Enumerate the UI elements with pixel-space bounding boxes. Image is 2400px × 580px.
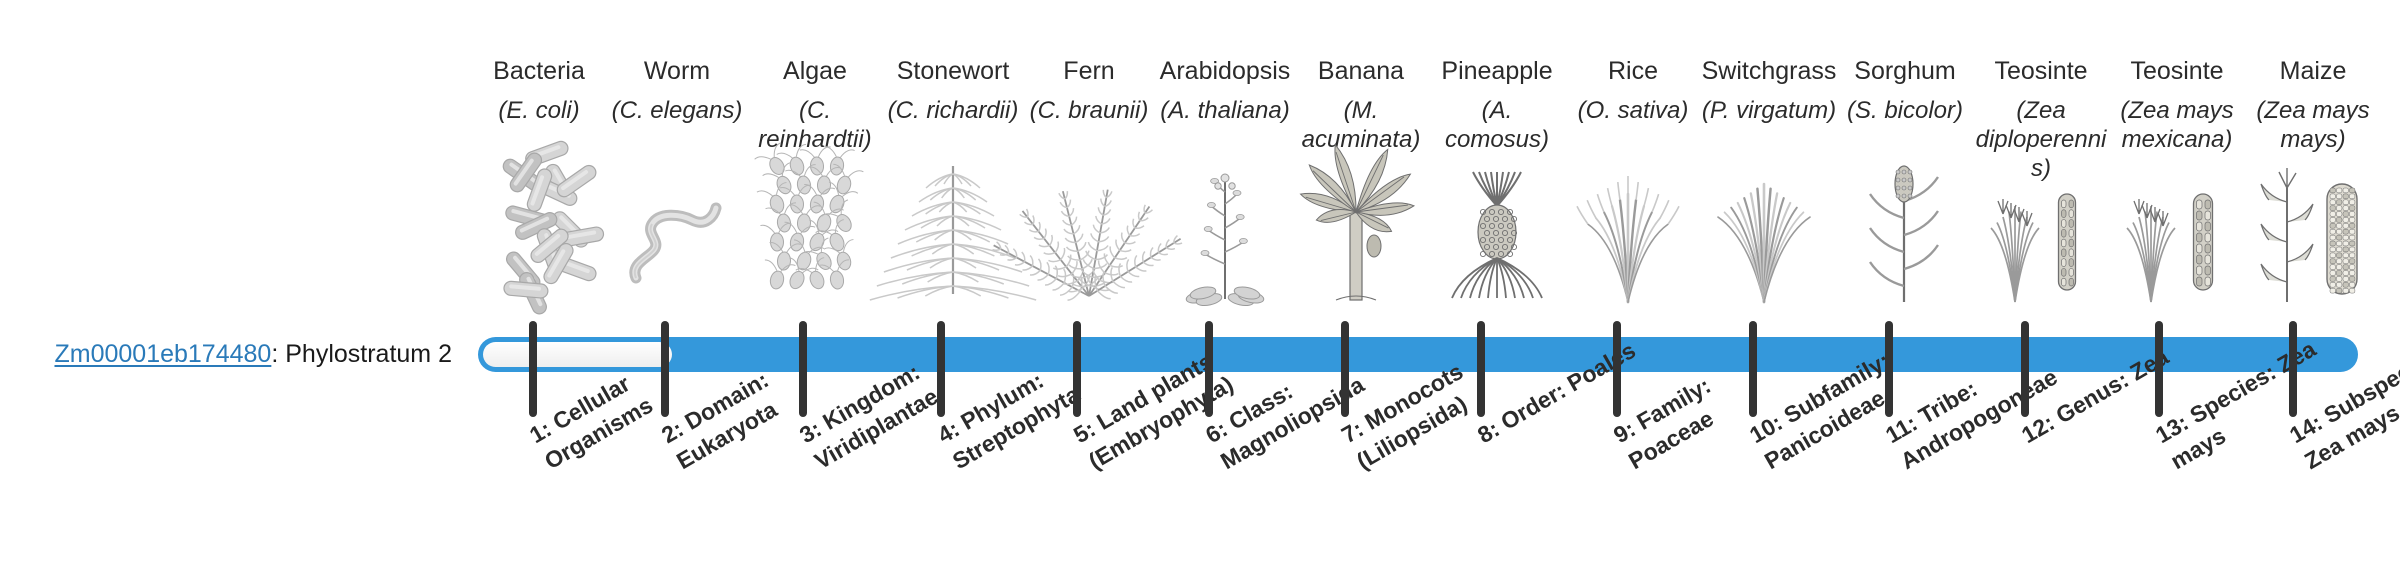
species-scientific-name: (E. coli) bbox=[470, 96, 608, 125]
species-column-banana: Banana(M. acuminata) bbox=[1292, 56, 1430, 154]
stratum-tick-4[interactable] bbox=[937, 321, 945, 417]
species-column-rice: Rice(O. sativa) bbox=[1564, 56, 1702, 125]
species-common-name: Pineapple bbox=[1428, 56, 1566, 86]
stratum-tick-3[interactable] bbox=[799, 321, 807, 417]
stratum-tick-14[interactable] bbox=[2289, 321, 2297, 417]
stratum-tick-1[interactable] bbox=[529, 321, 537, 417]
stratum-tick-5[interactable] bbox=[1073, 321, 1081, 417]
stratum-tick-9[interactable] bbox=[1613, 321, 1621, 417]
stratum-tick-8[interactable] bbox=[1477, 321, 1485, 417]
gene-label: Zm00001eb174480: Phylostratum 2 bbox=[0, 338, 452, 370]
species-scientific-name: (C. braunii) bbox=[1020, 96, 1158, 125]
species-column-teosinte: Teosinte(Zea mays mexicana) bbox=[2108, 56, 2246, 154]
species-column-algae: Algae(C. reinhardtii) bbox=[746, 56, 884, 154]
stratum-number: 8: bbox=[1473, 416, 1504, 449]
gene-phylostratum-text: Phylostratum 2 bbox=[285, 340, 452, 368]
species-common-name: Sorghum bbox=[1836, 56, 1974, 86]
species-common-name: Bacteria bbox=[470, 56, 608, 86]
stratum-number: 5: bbox=[1069, 416, 1100, 449]
species-scientific-name: (C. elegans) bbox=[608, 96, 746, 125]
species-scientific-name: (O. sativa) bbox=[1564, 96, 1702, 125]
species-column-sorghum: Sorghum(S. bicolor) bbox=[1836, 56, 1974, 125]
arabidopsis-icon bbox=[1156, 172, 1294, 304]
species-scientific-name: (S. bicolor) bbox=[1836, 96, 1974, 125]
species-scientific-name: (Zea mays mexicana) bbox=[2108, 96, 2246, 154]
species-common-name: Banana bbox=[1292, 56, 1430, 86]
rice-icon bbox=[1564, 172, 1702, 304]
species-column-switchgrass: Switchgrass(P. virgatum) bbox=[1700, 56, 1838, 125]
algae-icon bbox=[746, 172, 884, 304]
species-column-worm: Worm(C. elegans) bbox=[608, 56, 746, 125]
stratum-tick-13[interactable] bbox=[2155, 321, 2163, 417]
stratum-number: 3: bbox=[795, 416, 826, 449]
bacteria-icon bbox=[470, 172, 608, 304]
species-common-name: Worm bbox=[608, 56, 746, 86]
species-column-maize: Maize(Zea mays mays) bbox=[2244, 56, 2382, 154]
switchgrass-icon bbox=[1700, 172, 1838, 304]
species-column-arabidopsis: Arabidopsis(A. thaliana) bbox=[1156, 56, 1294, 125]
species-common-name: Teosinte bbox=[1972, 56, 2110, 86]
species-common-name: Stonewort bbox=[884, 56, 1022, 86]
stratum-tick-12[interactable] bbox=[2021, 321, 2029, 417]
sorghum-icon bbox=[1836, 172, 1974, 304]
maize-icon bbox=[2244, 172, 2382, 304]
stratum-tick-10[interactable] bbox=[1749, 321, 1757, 417]
stratum-tick-7[interactable] bbox=[1341, 321, 1349, 417]
stratum-tick-6[interactable] bbox=[1205, 321, 1213, 417]
stratum-number: 1: bbox=[525, 416, 556, 449]
pineapple-icon bbox=[1428, 172, 1566, 304]
species-common-name: Arabidopsis bbox=[1156, 56, 1294, 86]
species-scientific-name: (A. comosus) bbox=[1428, 96, 1566, 154]
species-scientific-name: (A. thaliana) bbox=[1156, 96, 1294, 125]
gene-id-link[interactable]: Zm00001eb174480 bbox=[54, 340, 271, 368]
species-column-stonewort: Stonewort(C. richardii) bbox=[884, 56, 1022, 125]
stratum-tick-2[interactable] bbox=[661, 321, 669, 417]
stratum-number: 9: bbox=[1609, 416, 1640, 449]
species-common-name: Teosinte bbox=[2108, 56, 2246, 86]
species-column-bacteria: Bacteria(E. coli) bbox=[470, 56, 608, 125]
stratum-number: 4: bbox=[933, 416, 964, 449]
species-common-name: Algae bbox=[746, 56, 884, 86]
species-common-name: Rice bbox=[1564, 56, 1702, 86]
stratum-number: 6: bbox=[1201, 416, 1232, 449]
stonewort-icon bbox=[884, 172, 1022, 304]
species-common-name: Switchgrass bbox=[1700, 56, 1838, 86]
fern-icon bbox=[1020, 172, 1158, 304]
teosinte-dip-icon bbox=[1972, 172, 2110, 304]
phylostratum-figure: Zm00001eb174480: Phylostratum 2 Bacteria… bbox=[0, 0, 2400, 580]
species-column-pineapple: Pineapple(A. comosus) bbox=[1428, 56, 1566, 154]
stratum-number: 2: bbox=[657, 416, 688, 449]
teosinte-mex-icon bbox=[2108, 172, 2246, 304]
worm-icon bbox=[608, 172, 746, 304]
species-common-name: Maize bbox=[2244, 56, 2382, 86]
species-scientific-name: (Zea mays mays) bbox=[2244, 96, 2382, 154]
gene-label-separator: : bbox=[271, 340, 285, 368]
species-scientific-name: (M. acuminata) bbox=[1292, 96, 1430, 154]
stratum-tick-11[interactable] bbox=[1885, 321, 1893, 417]
species-column-fern: Fern(C. braunii) bbox=[1020, 56, 1158, 125]
species-scientific-name: (C. reinhardtii) bbox=[746, 96, 884, 154]
species-scientific-name: (C. richardii) bbox=[884, 96, 1022, 125]
species-common-name: Fern bbox=[1020, 56, 1158, 86]
banana-icon bbox=[1292, 172, 1430, 304]
stratum-number: 7: bbox=[1337, 416, 1368, 449]
species-scientific-name: (P. virgatum) bbox=[1700, 96, 1838, 125]
